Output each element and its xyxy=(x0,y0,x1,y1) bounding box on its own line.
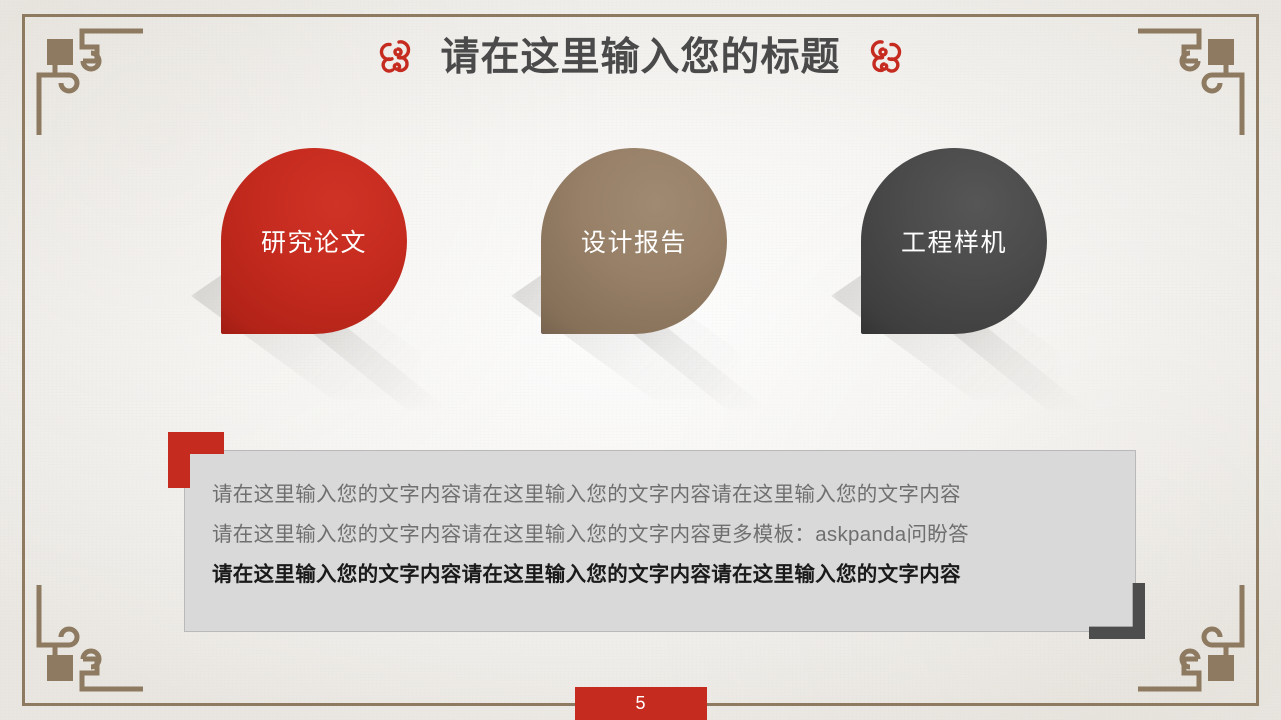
meander-corner-bottom-left-icon xyxy=(25,585,143,703)
pin-item-design-report[interactable]: 设计报告 xyxy=(505,140,805,410)
pin-label-engineering-prototype: 工程样机 xyxy=(861,148,1047,334)
meander-corner-bottom-right-icon xyxy=(1138,585,1256,703)
page-title: 请在这里输入您的标题 xyxy=(440,38,840,77)
content-line-2: 请在这里输入您的文字内容请在这里输入您的文字内容更多模板：askpanda问盼答 xyxy=(212,515,1115,555)
content-text-panel[interactable]: 请在这里输入您的文字内容请在这里输入您的文字内容请在这里输入您的文字内容 请在这… xyxy=(184,450,1136,632)
page-number-badge: 5 xyxy=(575,687,707,720)
content-lines: 请在这里输入您的文字内容请在这里输入您的文字内容请在这里输入您的文字内容 请在这… xyxy=(212,475,1115,595)
chinese-cloud-ornament-right-icon xyxy=(867,35,903,79)
pin-item-engineering-prototype[interactable]: 工程样机 xyxy=(825,140,1125,410)
pin-row: 研究论文 设计报告 工程样机 xyxy=(0,140,1281,410)
pin-item-research-paper[interactable]: 研究论文 xyxy=(185,140,485,410)
pin-label-research-paper: 研究论文 xyxy=(221,148,407,334)
content-line-3: 请在这里输入您的文字内容请在这里输入您的文字内容请在这里输入您的文字内容 xyxy=(212,555,1115,595)
slide-canvas: 请在这里输入您的标题 研究论文 xyxy=(0,0,1281,720)
content-line-1: 请在这里输入您的文字内容请在这里输入您的文字内容请在这里输入您的文字内容 xyxy=(212,475,1115,515)
pin-label-design-report: 设计报告 xyxy=(541,148,727,334)
chinese-cloud-ornament-left-icon xyxy=(378,35,414,79)
slide-header: 请在这里输入您的标题 xyxy=(0,26,1281,88)
